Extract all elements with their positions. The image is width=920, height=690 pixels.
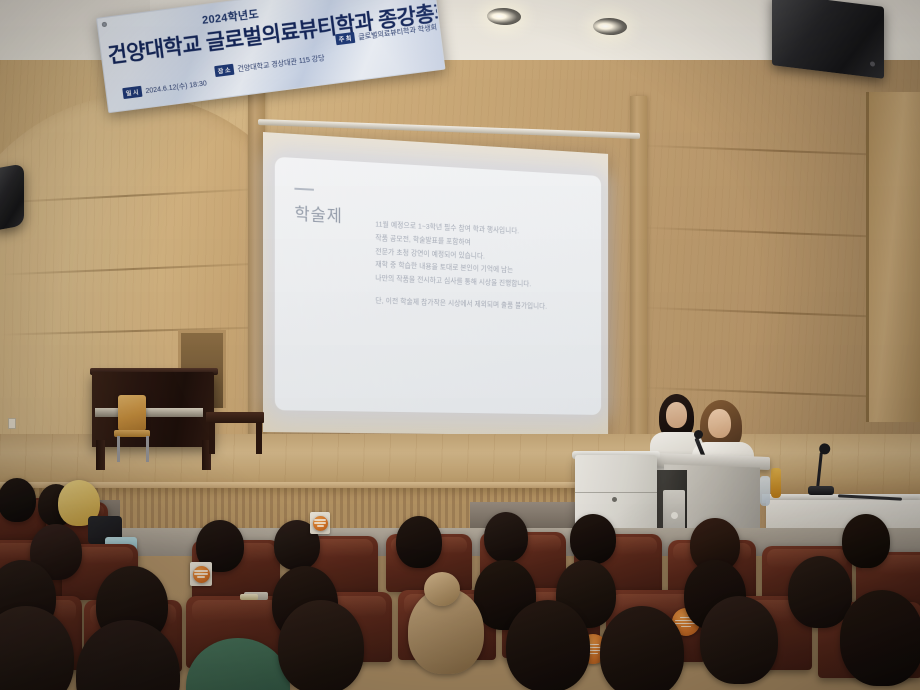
slide-body: 11월 예정으로 1~3학년 필수 참여 학과 행사입니다. 작품 공모전, 학… [375,218,587,315]
attendee-head [396,516,442,568]
attendee-head [278,600,364,690]
av-panel-button[interactable] [671,512,678,519]
chair-sticker-icon [313,516,328,531]
presentation-slide: 학술제 11월 예정으로 1~3학년 필수 참여 학과 행사입니다. 작품 공모… [275,157,601,415]
chair-leg [146,436,149,462]
chair-leg [117,436,120,462]
attendee-head [788,556,852,628]
seat-number-sticker [190,562,212,586]
piano-leg [96,440,105,470]
attendee-head [570,514,616,564]
chair-sticker-icon [193,566,210,583]
speaker-indicator-dot [870,61,875,67]
beverage-bottle [771,468,781,498]
wall-speaker-icon [772,0,884,79]
banner-row-place: 장 소 건양대학교 경상대관 115 강당 [214,52,325,77]
projection-screen: 학술제 11월 예정으로 1~3학년 필수 참여 학과 행사입니다. 작품 공모… [263,132,608,436]
attendee-head [0,478,36,522]
wooden-chair-back [118,395,146,431]
microphone-base [808,486,834,495]
attendee-head [484,512,528,562]
wall-speaker-icon [0,163,24,230]
banner-row-date: 일 시 2024.6.12(수) 18:30 [122,77,207,99]
presenter-face [708,409,731,438]
sticker-text-lines [314,518,326,529]
attendee-head [700,596,778,684]
seat-number-sticker [310,512,330,534]
sticker-text-lines [194,569,207,580]
hair-bun [424,572,460,606]
slide-divider [294,188,313,191]
presenter-face [666,402,687,428]
banner-date-tag: 일 시 [122,86,142,99]
attendee-head [600,606,684,690]
attendee-head [840,590,920,686]
water-bottle [760,476,770,506]
banner-row-host: 주 최 글로벌의료뷰티학과 학생회 〈시온〉 [335,17,445,45]
microphone-head-icon [694,430,703,439]
banner-date-value: 2024.6.12(수) 18:30 [145,78,207,96]
banner-place-value: 건양대학교 경상대관 115 강당 [237,52,325,73]
smartphone [240,594,258,600]
attendee-head [506,600,590,690]
banner-host-value: 글로벌의료뷰티학과 학생회 〈시온〉 [358,18,446,42]
auditorium-photo: 2024학년도 건양대학교 글로벌의료뷰티학과 종강총회 일 시 2024.6.… [0,0,920,690]
bench-leg [209,422,215,454]
side-door[interactable] [866,92,920,422]
slide-content: 학술제 11월 예정으로 1~3학년 필수 참여 학과 행사입니다. 작품 공모… [275,157,601,415]
av-cabinet-seam [575,492,657,493]
wall-outlet-icon [8,418,16,429]
banner-place-tag: 장 소 [214,64,234,77]
attendee-head [842,514,890,568]
wall-column [630,96,647,446]
bench-leg [256,422,262,454]
av-cabinet-latch[interactable] [612,497,617,502]
banner-host-tag: 주 최 [335,32,355,45]
piano-keyboard-cover [95,408,203,417]
banner-grommet-icon [102,22,108,28]
